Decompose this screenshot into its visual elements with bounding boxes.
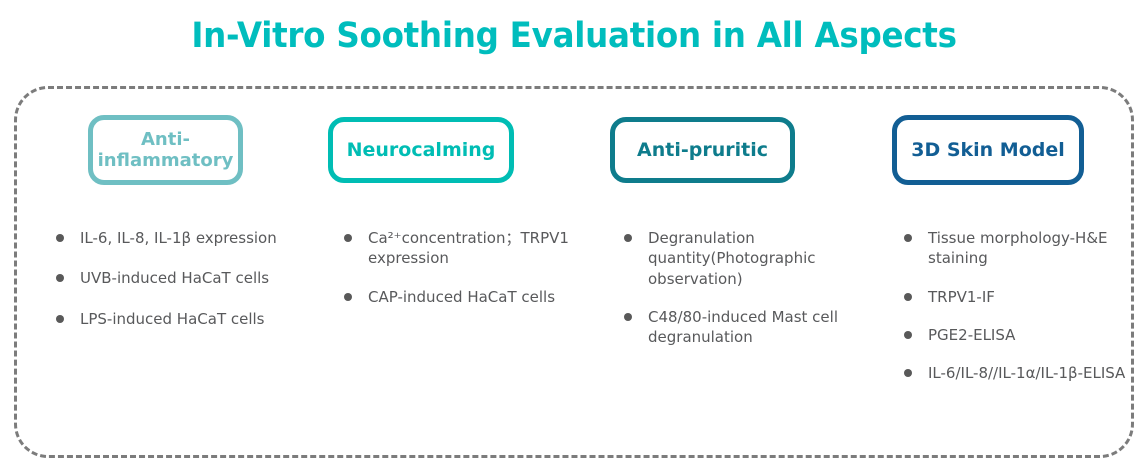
category-pill-label: Anti-inflammatory [98,129,234,171]
list-item: C48/80-induced Mast cell degranulation [618,307,870,348]
category-pill-label: Neurocalming [347,139,496,161]
list-item-label: Ca²⁺concentration；TRPV1 expression [368,229,569,267]
pill-row: Neurocalming [312,86,586,214]
pill-row: Anti-inflammatory [36,86,304,214]
bullet-dot-icon [344,234,352,242]
bullet-dot-icon [624,313,632,321]
column-neurocalming: Neurocalming Ca²⁺concentration；TRPV1 exp… [304,86,586,458]
list-item-label: UVB-induced HaCaT cells [80,269,269,287]
list-item: Ca²⁺concentration；TRPV1 expression [338,228,586,269]
bullet-list-anti-inflammatory: IL-6, IL-8, IL-1β expression UVB-induced… [50,228,304,329]
bullet-dot-icon [904,293,912,301]
bullet-list-3d-skin-model: Tissue morphology-H&E staining TRPV1-IF … [898,228,1134,383]
bullet-list-anti-pruritic: Degranulation quantity(Photographic obse… [618,228,870,347]
list-item-label: Tissue morphology-H&E staining [928,229,1108,267]
bullet-dot-icon [904,369,912,377]
bullet-dot-icon [904,331,912,339]
list-item: IL-6, IL-8, IL-1β expression [50,228,304,248]
list-item: UVB-induced HaCaT cells [50,268,304,288]
list-item-label: LPS-induced HaCaT cells [80,310,265,328]
column-3d-skin-model: 3D Skin Model Tissue morphology-H&E stai… [870,86,1134,458]
list-item: IL-6/IL-8//IL-1α/IL-1β-ELISA [898,363,1134,383]
list-item: Degranulation quantity(Photographic obse… [618,228,870,289]
bullet-dot-icon [56,274,64,282]
column-anti-pruritic: Anti-pruritic Degranulation quantity(Pho… [586,86,870,458]
bullet-dot-icon [344,293,352,301]
category-pill-label: 3D Skin Model [911,139,1065,161]
list-item: TRPV1-IF [898,287,1134,307]
list-item-label: PGE2-ELISA [928,326,1015,344]
category-pill-anti-inflammatory[interactable]: Anti-inflammatory [88,115,243,185]
page-title: In-Vitro Soothing Evaluation in All Aspe… [40,16,1108,56]
list-item: CAP-induced HaCaT cells [338,287,586,307]
list-item: Tissue morphology-H&E staining [898,228,1134,269]
list-item-label: TRPV1-IF [928,288,995,306]
column-anti-inflammatory: Anti-inflammatory IL-6, IL-8, IL-1β expr… [14,86,304,458]
pill-row: Anti-pruritic [586,86,870,214]
columns-container: Anti-inflammatory IL-6, IL-8, IL-1β expr… [14,86,1134,458]
list-item: PGE2-ELISA [898,325,1134,345]
list-item-label: IL-6, IL-8, IL-1β expression [80,229,277,247]
category-pill-anti-pruritic[interactable]: Anti-pruritic [610,117,795,183]
pill-row: 3D Skin Model [870,86,1134,214]
list-item: LPS-induced HaCaT cells [50,309,304,329]
list-item-label: C48/80-induced Mast cell degranulation [648,308,838,346]
category-pill-label: Anti-pruritic [637,139,768,161]
bullet-dot-icon [56,315,64,323]
bullet-dot-icon [56,234,64,242]
bullet-dot-icon [904,234,912,242]
list-item-label: IL-6/IL-8//IL-1α/IL-1β-ELISA [928,364,1125,382]
bullet-list-neurocalming: Ca²⁺concentration；TRPV1 expression CAP-i… [338,228,586,307]
list-item-label: CAP-induced HaCaT cells [368,288,555,306]
category-pill-3d-skin-model[interactable]: 3D Skin Model [892,115,1084,185]
bullet-dot-icon [624,234,632,242]
list-item-label: Degranulation quantity(Photographic obse… [648,229,816,288]
category-pill-neurocalming[interactable]: Neurocalming [328,117,514,183]
